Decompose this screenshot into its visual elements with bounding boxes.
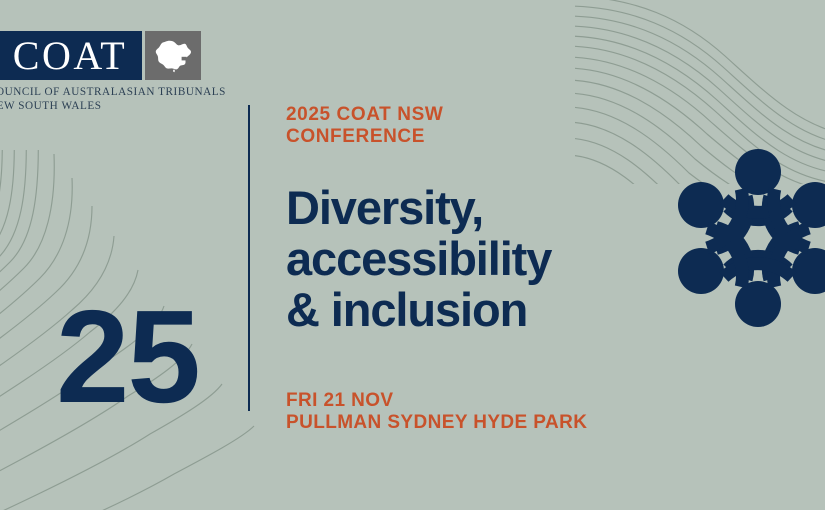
headline-line2: accessibility (286, 234, 616, 285)
event-details: FRI 21 NOV PULLMAN SYDNEY HYDE PARK (286, 390, 616, 436)
australia-map-icon (145, 31, 201, 80)
logo-wordmark-box: COAT (0, 31, 142, 80)
logo-boxes: COAT (0, 31, 202, 80)
coat-logo: COAT COUNCIL OF AUSTRALASIAN TRIBUNALS N… (0, 31, 202, 111)
logo-subtitle-line1: COUNCIL OF AUSTRALASIAN TRIBUNALS (0, 85, 202, 99)
logo-wordmark-text: COAT (3, 36, 127, 76)
headline-line3: & inclusion (286, 285, 616, 336)
event-date: FRI 21 NOV (286, 390, 616, 413)
logo-subtitle: COUNCIL OF AUSTRALASIAN TRIBUNALS NEW SO… (0, 85, 202, 114)
conference-banner: COAT COUNCIL OF AUSTRALASIAN TRIBUNALS N… (0, 0, 825, 510)
eyebrow-line1: 2025 COAT NSW (286, 104, 616, 126)
headline: Diversity, accessibility & inclusion (286, 183, 616, 335)
headline-line1: Diversity, (286, 183, 616, 234)
year-number: 25 (56, 291, 199, 423)
content-column: 2025 COAT NSW CONFERENCE Diversity, acce… (286, 104, 616, 435)
eyebrow-title: 2025 COAT NSW CONFERENCE (286, 104, 616, 148)
eyebrow-line2: CONFERENCE (286, 126, 616, 148)
people-unity-circle-icon (666, 147, 825, 329)
vertical-divider (248, 105, 250, 411)
event-venue: PULLMAN SYDNEY HYDE PARK (286, 412, 616, 435)
logo-subtitle-line2: NEW SOUTH WALES (0, 99, 202, 113)
